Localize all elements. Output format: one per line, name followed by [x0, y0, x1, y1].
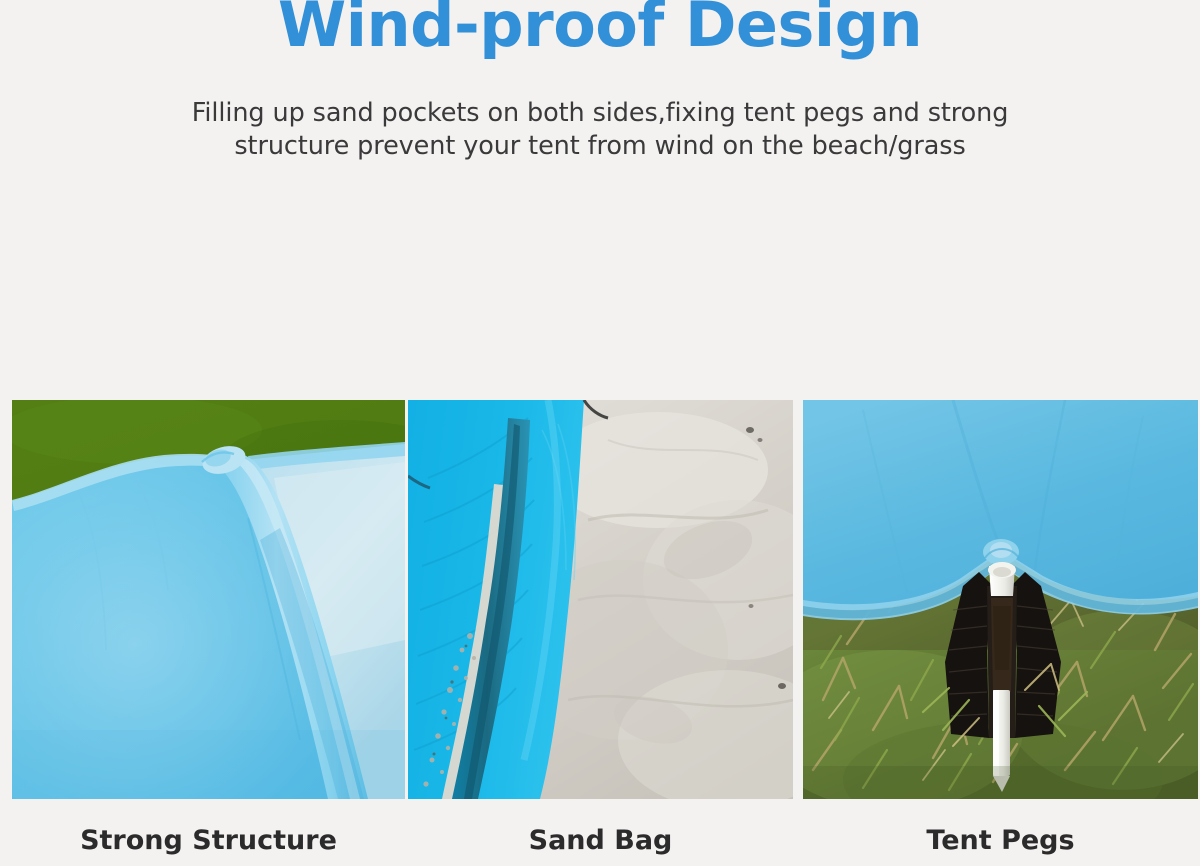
tent-dome-seam-icon — [12, 400, 405, 799]
page-title: Wind-proof Design — [0, 0, 1200, 56]
page-subtitle: Filling up sand pockets on both sides,fi… — [0, 97, 1200, 163]
sand-pocket-icon — [408, 400, 793, 799]
caption-strong-structure: Strong Structure — [12, 825, 405, 857]
subtitle-line-1: Filling up sand pockets on both sides,fi… — [0, 97, 1200, 130]
feature-photo-strip — [0, 400, 1200, 800]
caption-sand-bag: Sand Bag — [408, 825, 793, 857]
panel-tent-pegs — [803, 400, 1198, 799]
panel-caption-row: Strong Structure Sand Bag Tent Pegs — [0, 799, 1200, 866]
caption-tent-pegs: Tent Pegs — [803, 825, 1198, 857]
panel-sand-bag — [408, 400, 793, 799]
panel-strong-structure — [12, 400, 405, 799]
subtitle-line-2: structure prevent your tent from wind on… — [0, 130, 1200, 163]
hero-header: Wind-proof Design Filling up sand pocket… — [0, 0, 1200, 163]
tent-peg-strap-icon — [803, 400, 1198, 799]
